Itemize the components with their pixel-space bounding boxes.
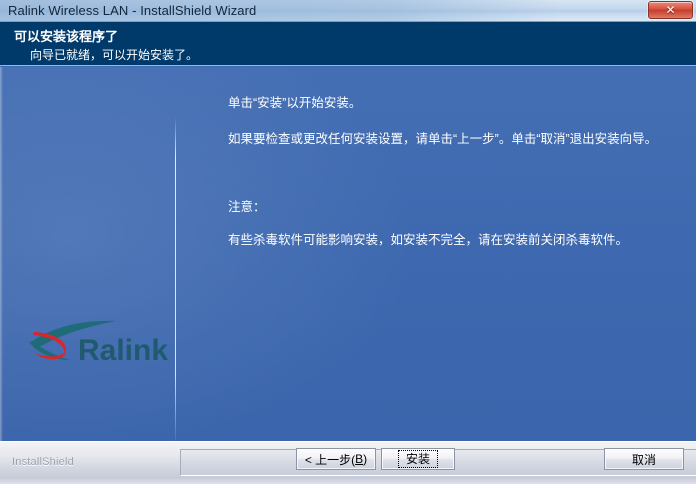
content-paragraph-2: 如果要检查或更改任何安装设置，请单击“上一步”。单击“取消”退出安装向导。	[228, 130, 668, 149]
body-left-highlight	[0, 67, 3, 441]
note-body: 有些杀毒软件可能影响安装，如安装不完全，请在安装前关闭杀毒软件。	[228, 231, 668, 250]
wizard-header-band: 可以安装该程序了 向导已就绪，可以开始安装了。	[0, 22, 696, 66]
back-button-label-suffix: )	[363, 452, 367, 466]
content-paragraph-1: 单击“安装”以开始安装。	[228, 94, 668, 113]
close-icon: ✕	[665, 4, 675, 16]
cancel-button-label: 取消	[632, 451, 656, 468]
back-button[interactable]: < 上一步(B)	[296, 448, 376, 470]
cancel-button[interactable]: 取消	[604, 448, 684, 470]
header-subtitle: 向导已就绪，可以开始安装了。	[30, 46, 198, 63]
installshield-wizard-window: Ralink Wireless LAN - InstallShield Wiza…	[0, 0, 696, 484]
back-button-label-prefix: < 上一步(	[305, 451, 355, 468]
panel-divider	[175, 117, 176, 441]
install-button[interactable]: 安装	[381, 448, 455, 470]
install-button-label: 安装	[398, 450, 438, 468]
ralink-logo: Ralink	[24, 310, 169, 372]
installshield-brand: InstallShield	[12, 456, 74, 468]
header-title: 可以安装该程序了	[14, 26, 118, 45]
note-heading: 注意：	[228, 198, 668, 217]
wizard-body: Ralink 单击“安装”以开始安装。 如果要检查或更改任何安装设置，请单击“上…	[0, 67, 696, 441]
content-spacer	[228, 166, 668, 198]
back-button-mnemonic: B	[355, 452, 363, 466]
window-title: Ralink Wireless LAN - InstallShield Wiza…	[8, 2, 256, 20]
wizard-content-text: 单击“安装”以开始安装。 如果要检查或更改任何安装设置，请单击“上一步”。单击“…	[228, 94, 668, 267]
ralink-wordmark: Ralink	[78, 334, 168, 367]
close-button[interactable]: ✕	[648, 1, 693, 19]
ralink-logo-icon: Ralink	[24, 310, 169, 372]
title-bar: Ralink Wireless LAN - InstallShield Wiza…	[0, 0, 696, 22]
